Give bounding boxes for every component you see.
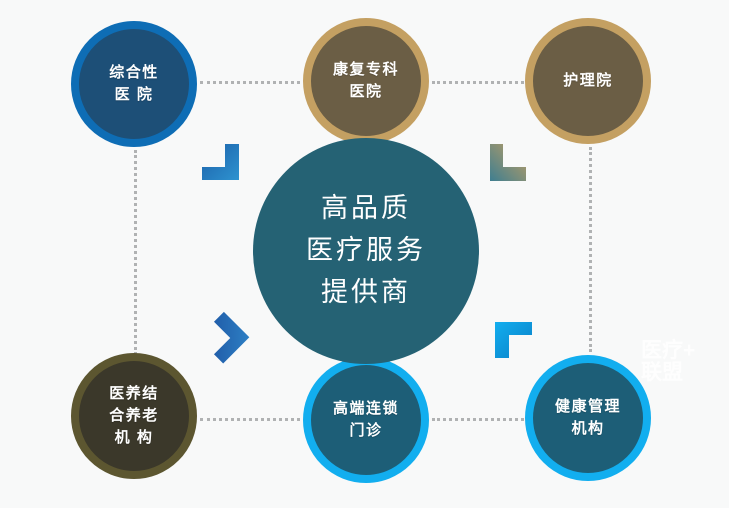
node-premium-chain-clinic[interactable]: 高端连锁 门诊 — [303, 357, 429, 483]
node-label-nursing-home: 护理院 — [563, 70, 613, 92]
node-rehab-specialty-hospital[interactable]: 康复专科 医院 — [303, 18, 429, 144]
node-label-general-hospital: 综合性 医 院 — [109, 62, 159, 106]
connector-top-center-to-top-right — [432, 81, 524, 84]
connector-bottom-left-to-bottom-center — [200, 418, 300, 421]
chevron-arrow-icon-top-left — [200, 142, 244, 186]
watermark-text: 医疗+ 联盟 — [641, 340, 695, 384]
connector-bottom-center-to-bottom-right — [432, 418, 524, 421]
chevron-arrow-icon-top-right — [484, 142, 528, 186]
connector-left-column — [134, 150, 137, 355]
center-node[interactable]: 高品质 医疗服务 提供商 — [253, 138, 479, 364]
chevron-arrow-icon-bottom-right — [490, 316, 534, 360]
connector-right-column — [589, 147, 592, 352]
node-label-rehab-specialty-hospital: 康复专科 医院 — [333, 59, 399, 103]
center-node-label: 高品质 医疗服务 提供商 — [306, 188, 426, 314]
node-label-health-management-org: 健康管理 机构 — [555, 396, 621, 440]
node-label-medical-elderly-care: 医养结 合养老 机 构 — [109, 383, 159, 448]
diagram-canvas: 综合性 医 院康复专科 医院护理院医养结 合养老 机 构高端连锁 门诊健康管理 … — [0, 0, 729, 508]
connector-top-left-to-top-center — [200, 81, 300, 84]
chevron-arrow-icon-bottom-left — [195, 307, 257, 369]
node-general-hospital[interactable]: 综合性 医 院 — [71, 21, 197, 147]
node-nursing-home[interactable]: 护理院 — [525, 18, 651, 144]
node-health-management-org[interactable]: 健康管理 机构 — [525, 355, 651, 481]
node-label-premium-chain-clinic: 高端连锁 门诊 — [333, 398, 399, 442]
node-medical-elderly-care[interactable]: 医养结 合养老 机 构 — [71, 353, 197, 479]
